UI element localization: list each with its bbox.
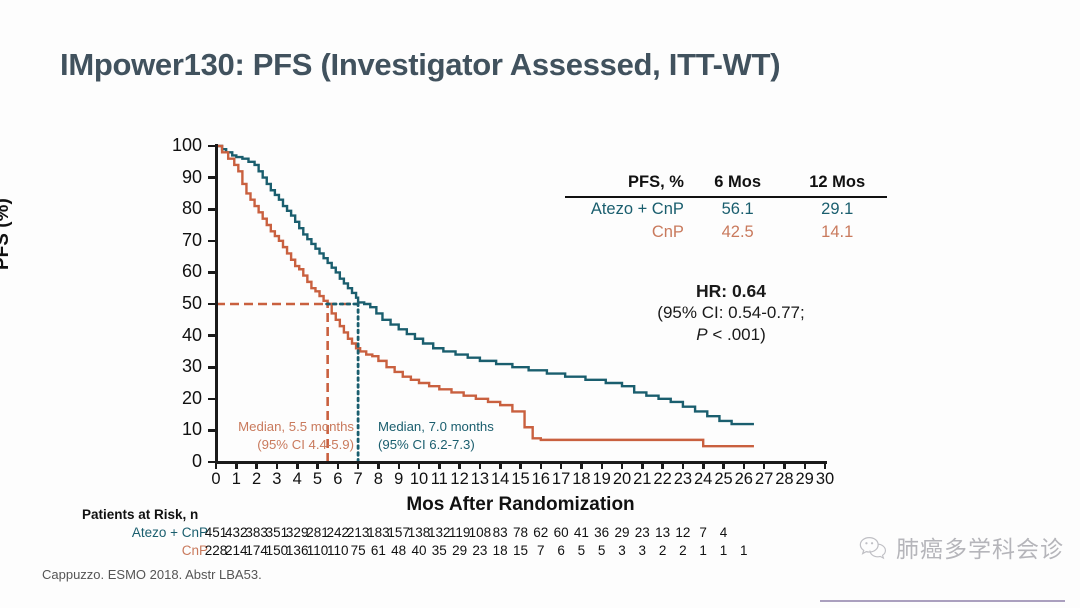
x-tick [296,462,299,469]
table-row: CnP 42.5 14.1 [565,221,887,244]
hazard-ratio-ci: (95% CI: 0.54-0.77; [602,302,860,324]
x-tick [804,462,807,469]
y-tick [208,429,215,432]
x-tick [763,462,766,469]
x-tick [316,462,319,469]
x-tick [580,462,583,469]
table-header-12mos: 12 Mos [787,172,887,197]
x-tick [743,462,746,469]
y-tick [208,366,215,369]
citation-text: Cappuzzo. ESMO 2018. Abstr LBA53. [42,567,262,582]
x-tick [499,462,502,469]
y-tick-label: 70 [158,230,202,251]
x-tick [438,462,441,469]
hazard-ratio-pvalue: P < .001) [602,324,860,346]
x-tick [337,462,340,469]
x-tick [235,462,238,469]
wechat-icon [858,532,888,562]
risk-value: 1 [731,543,757,558]
x-tick [824,462,827,469]
x-tick-label: 30 [810,470,840,489]
x-tick [276,462,279,469]
median-atezo-line2: (95% CI 6.2-7.3) [378,436,528,454]
y-tick [208,271,215,274]
x-tick [783,462,786,469]
x-tick [418,462,421,469]
y-tick [208,208,215,211]
median-cnp-line2: (95% CI 4.4-5.9) [226,436,354,454]
table-cell-arm-atezo: Atezo + CnP [565,197,688,221]
table-cell-atezo-12mos: 29.1 [787,197,887,221]
x-tick [255,462,258,469]
median-annotation-cnp: Median, 5.5 months (95% CI 4.4-5.9) [226,418,354,454]
table-cell-atezo-6mos: 56.1 [688,197,788,221]
hazard-ratio-value: HR: 0.64 [602,280,860,302]
pfs-table: PFS, % 6 Mos 12 Mos Atezo + CnP 56.1 29.… [565,172,887,244]
y-tick-label: 0 [158,451,202,472]
x-tick [377,462,380,469]
bottom-divider [820,600,1065,602]
y-tick [208,303,215,306]
x-axis-title: Mos After Randomization [216,494,825,516]
median-annotation-atezo: Median, 7.0 months (95% CI 6.2-7.3) [378,418,528,454]
table-header-row: PFS, % 6 Mos 12 Mos [565,172,887,197]
x-tick [458,462,461,469]
risk-row-label-atezo: Atezo + CnP [88,525,208,540]
y-tick-label: 50 [158,293,202,314]
x-tick [540,462,543,469]
y-tick [208,398,215,401]
hazard-ratio-box: HR: 0.64 (95% CI: 0.54-0.77; P < .001) [602,280,860,346]
p-symbol: P [696,325,707,344]
x-tick [702,462,705,469]
y-tick-label: 100 [158,135,202,156]
x-tick [641,462,644,469]
table-row: Atezo + CnP 56.1 29.1 [565,197,887,221]
y-tick-label: 90 [158,167,202,188]
watermark: 肺癌多学科会诊 [858,530,1064,564]
x-tick [215,462,218,469]
x-tick [398,462,401,469]
y-tick [208,240,215,243]
x-tick [560,462,563,469]
table-cell-cnp-12mos: 14.1 [787,221,887,244]
watermark-text: 肺癌多学科会诊 [896,530,1064,564]
patients-at-risk-title: Patients at Risk, n [82,507,198,522]
x-tick [519,462,522,469]
y-tick [208,176,215,179]
x-tick [621,462,624,469]
table-cell-cnp-6mos: 42.5 [688,221,788,244]
y-tick-label: 30 [158,356,202,377]
table-cell-arm-cnp: CnP [565,221,688,244]
table-header-6mos: 6 Mos [688,172,788,197]
p-value-text: < .001) [708,325,766,344]
y-tick-label: 20 [158,388,202,409]
y-tick-label: 10 [158,419,202,440]
y-tick-label: 80 [158,198,202,219]
x-tick [357,462,360,469]
x-tick [479,462,482,469]
y-tick-label: 40 [158,325,202,346]
x-tick [722,462,725,469]
y-tick [208,334,215,337]
y-axis-title: PFS (%) [0,198,14,270]
y-axis-line [215,144,218,464]
table-header-metric: PFS, % [565,172,688,197]
pfs-summary-table: PFS, % 6 Mos 12 Mos Atezo + CnP 56.1 29.… [565,172,887,244]
x-tick [601,462,604,469]
risk-value: 4 [711,525,737,540]
median-atezo-line1: Median, 7.0 months [378,418,528,436]
y-tick-label: 60 [158,261,202,282]
median-cnp-line1: Median, 5.5 months [226,418,354,436]
y-tick [208,145,215,148]
x-tick [682,462,685,469]
risk-row-label-cnp: CnP [88,543,208,558]
x-tick [661,462,664,469]
